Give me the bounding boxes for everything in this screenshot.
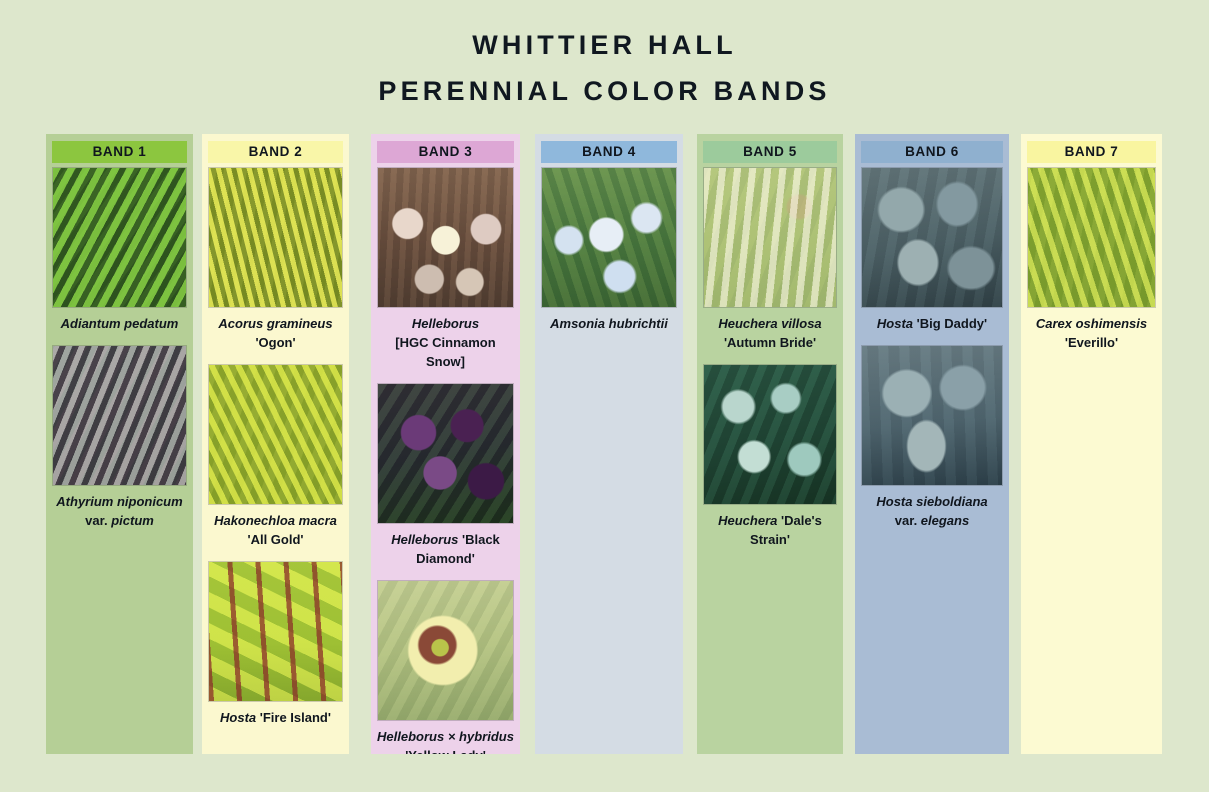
- caption-cultivar-name: 'Yellow Lady': [405, 748, 486, 754]
- plant-caption: Hosta 'Fire Island': [202, 702, 349, 735]
- caption-botanical-name: pictum: [111, 513, 154, 528]
- plant-entry: Carex oshimensis'Everillo': [1021, 167, 1162, 360]
- band-column-5[interactable]: BAND 5Heuchera villosa'Autumn Bride'Heuc…: [697, 134, 843, 754]
- plant-caption: Amsonia hubrichtii: [535, 308, 683, 341]
- caption-botanical-name: Adiantum pedatum: [61, 316, 179, 331]
- photo-texture: [378, 168, 513, 307]
- plant-caption: Heuchera 'Dale's Strain': [697, 505, 843, 557]
- caption-line: Heuchera 'Dale's Strain': [701, 511, 839, 549]
- plant-caption: Acorus gramineus'Ogon': [202, 308, 349, 360]
- caption-line: Hosta 'Fire Island': [206, 708, 345, 727]
- plant-caption: Carex oshimensis'Everillo': [1021, 308, 1162, 360]
- plant-caption: Helleborus × hybridus'Yellow Lady': [371, 721, 520, 754]
- photo-texture: [862, 168, 1002, 307]
- caption-botanical-name: Acorus gramineus: [218, 316, 332, 331]
- caption-cultivar-name: 'Autumn Bride': [724, 335, 816, 350]
- caption-botanical-name: Amsonia hubrichtii: [550, 316, 668, 331]
- caption-cultivar-name: 'Black: [462, 532, 500, 547]
- photo-texture: [209, 168, 342, 307]
- plant-caption: Hosta 'Big Daddy': [855, 308, 1009, 341]
- hosta-sieboldiana-photo: [861, 345, 1003, 486]
- caption-cultivar-name: 'All Gold': [247, 532, 303, 547]
- caption-line: Hakonechloa macra: [206, 511, 345, 530]
- plant-entry: Hakonechloa macra'All Gold': [202, 364, 349, 557]
- band-columns: BAND 1Adiantum pedatumAthyrium niponicum…: [0, 134, 1209, 754]
- plant-caption: Adiantum pedatum: [46, 308, 193, 341]
- plant-caption: Hosta sieboldianavar. elegans: [855, 486, 1009, 538]
- hosta-big-daddy-photo: [861, 167, 1003, 308]
- caption-line: [HGC Cinnamon Snow]: [375, 333, 516, 371]
- photo-texture: [378, 384, 513, 523]
- plant-caption: Helleborus[HGC Cinnamon Snow]: [371, 308, 520, 379]
- plant-entry: Hosta 'Fire Island': [202, 561, 349, 735]
- caption-botanical-name: Hosta sieboldiana: [876, 494, 987, 509]
- photo-texture: [542, 168, 676, 307]
- title-line-2: PERENNIAL COLOR BANDS: [0, 68, 1209, 114]
- plant-caption: Athyrium niponicumvar. pictum: [46, 486, 193, 538]
- caption-botanical-name: Hosta: [220, 710, 260, 725]
- caption-line: Adiantum pedatum: [50, 314, 189, 333]
- plant-entry: Amsonia hubrichtii: [535, 167, 683, 341]
- plant-caption: Heuchera villosa'Autumn Bride': [697, 308, 843, 360]
- caption-line: Acorus gramineus: [206, 314, 345, 333]
- photo-texture: [704, 168, 836, 307]
- photo-texture: [862, 346, 1002, 485]
- caption-cultivar-name: [HGC Cinnamon Snow]: [395, 335, 495, 369]
- photo-texture: [1028, 168, 1155, 307]
- band-column-1[interactable]: BAND 1Adiantum pedatumAthyrium niponicum…: [46, 134, 193, 754]
- caption-botanical-name: Carex oshimensis: [1036, 316, 1147, 331]
- caption-line: Athyrium niponicum: [50, 492, 189, 511]
- heuchera-dales-strain-photo: [703, 364, 837, 505]
- page-title: WHITTIER HALL PERENNIAL COLOR BANDS: [0, 22, 1209, 114]
- caption-botanical-name: Helleborus × hybridus: [377, 729, 514, 744]
- band-header-4: BAND 4: [541, 141, 677, 163]
- caption-line: Helleborus: [375, 314, 516, 333]
- plant-entry: Helleborus[HGC Cinnamon Snow]: [371, 167, 520, 379]
- band-header-5: BAND 5: [703, 141, 837, 163]
- helleborus-cinnamon-snow-photo: [377, 167, 514, 308]
- caption-botanical-name: Heuchera villosa: [718, 316, 821, 331]
- caption-line: Hosta 'Big Daddy': [859, 314, 1005, 333]
- band-header-1: BAND 1: [52, 141, 187, 163]
- caption-line: 'Everillo': [1025, 333, 1158, 352]
- caption-botanical-name: elegans: [921, 513, 969, 528]
- caption-line: Helleborus 'Black: [375, 530, 516, 549]
- photo-texture: [704, 365, 836, 504]
- caption-botanical-name: Helleborus: [391, 532, 462, 547]
- caption-botanical-name: Helleborus: [412, 316, 479, 331]
- caption-botanical-name: Hosta: [877, 316, 917, 331]
- photo-texture: [53, 346, 186, 485]
- caption-line: Diamond': [375, 549, 516, 568]
- band-column-6[interactable]: BAND 6Hosta 'Big Daddy'Hosta sieboldiana…: [855, 134, 1009, 754]
- amsonia-hubrichtii-photo: [541, 167, 677, 308]
- caption-cultivar-name: 'Everillo': [1065, 335, 1118, 350]
- caption-cultivar-name: 'Big Daddy': [917, 316, 987, 331]
- plant-entry: Adiantum pedatum: [46, 167, 193, 341]
- caption-rank: var.: [85, 513, 111, 528]
- caption-line: var. pictum: [50, 511, 189, 530]
- japanese-painted-fern-photo: [52, 345, 187, 486]
- caption-line: 'Ogon': [206, 333, 345, 352]
- band-header-6: BAND 6: [861, 141, 1003, 163]
- photo-texture: [209, 562, 342, 701]
- plant-entry: Helleborus 'BlackDiamond': [371, 383, 520, 576]
- plant-entry: Heuchera 'Dale's Strain': [697, 364, 843, 557]
- caption-line: Helleborus × hybridus: [375, 727, 516, 746]
- hakonechloa-all-gold-photo: [208, 364, 343, 505]
- band-column-4[interactable]: BAND 4Amsonia hubrichtii: [535, 134, 683, 754]
- hosta-fire-island-photo: [208, 561, 343, 702]
- band-header-3: BAND 3: [377, 141, 514, 163]
- caption-line: var. elegans: [859, 511, 1005, 530]
- band-header-2: BAND 2: [208, 141, 343, 163]
- caption-rank: var.: [895, 513, 921, 528]
- photo-texture: [378, 581, 513, 720]
- caption-line: 'All Gold': [206, 530, 345, 549]
- plant-entry: Helleborus × hybridus'Yellow Lady': [371, 580, 520, 754]
- title-line-1: WHITTIER HALL: [0, 22, 1209, 68]
- caption-cultivar-name: 'Fire Island': [260, 710, 331, 725]
- helleborus-yellow-lady-photo: [377, 580, 514, 721]
- caption-botanical-name: Heuchera: [718, 513, 781, 528]
- caption-botanical-name: Athyrium niponicum: [56, 494, 182, 509]
- caption-line: 'Yellow Lady': [375, 746, 516, 754]
- band-column-2[interactable]: BAND 2Acorus gramineus'Ogon'Hakonechloa …: [202, 134, 349, 754]
- band-column-3[interactable]: BAND 3Helleborus[HGC Cinnamon Snow]Helle…: [371, 134, 520, 754]
- caption-line: 'Autumn Bride': [701, 333, 839, 352]
- plant-caption: Hakonechloa macra'All Gold': [202, 505, 349, 557]
- helleborus-black-diamond-photo: [377, 383, 514, 524]
- maidenhair-fern-photo: [52, 167, 187, 308]
- caption-line: Carex oshimensis: [1025, 314, 1158, 333]
- plant-caption: Helleborus 'BlackDiamond': [371, 524, 520, 576]
- caption-cultivar-name: 'Ogon': [255, 335, 295, 350]
- plant-entry: Hosta sieboldianavar. elegans: [855, 345, 1009, 538]
- caption-line: Amsonia hubrichtii: [539, 314, 679, 333]
- caption-cultivar-name: Diamond': [416, 551, 475, 566]
- plant-entry: Acorus gramineus'Ogon': [202, 167, 349, 360]
- photo-texture: [53, 168, 186, 307]
- plant-entry: Athyrium niponicumvar. pictum: [46, 345, 193, 538]
- photo-texture: [209, 365, 342, 504]
- caption-botanical-name: Hakonechloa macra: [214, 513, 337, 528]
- band-header-7: BAND 7: [1027, 141, 1156, 163]
- carex-everillo-photo: [1027, 167, 1156, 308]
- acorus-ogon-photo: [208, 167, 343, 308]
- plant-entry: Hosta 'Big Daddy': [855, 167, 1009, 341]
- caption-line: Hosta sieboldiana: [859, 492, 1005, 511]
- plant-entry: Heuchera villosa'Autumn Bride': [697, 167, 843, 360]
- caption-line: Heuchera villosa: [701, 314, 839, 333]
- band-column-7[interactable]: BAND 7Carex oshimensis'Everillo': [1021, 134, 1162, 754]
- heuchera-autumn-bride-photo: [703, 167, 837, 308]
